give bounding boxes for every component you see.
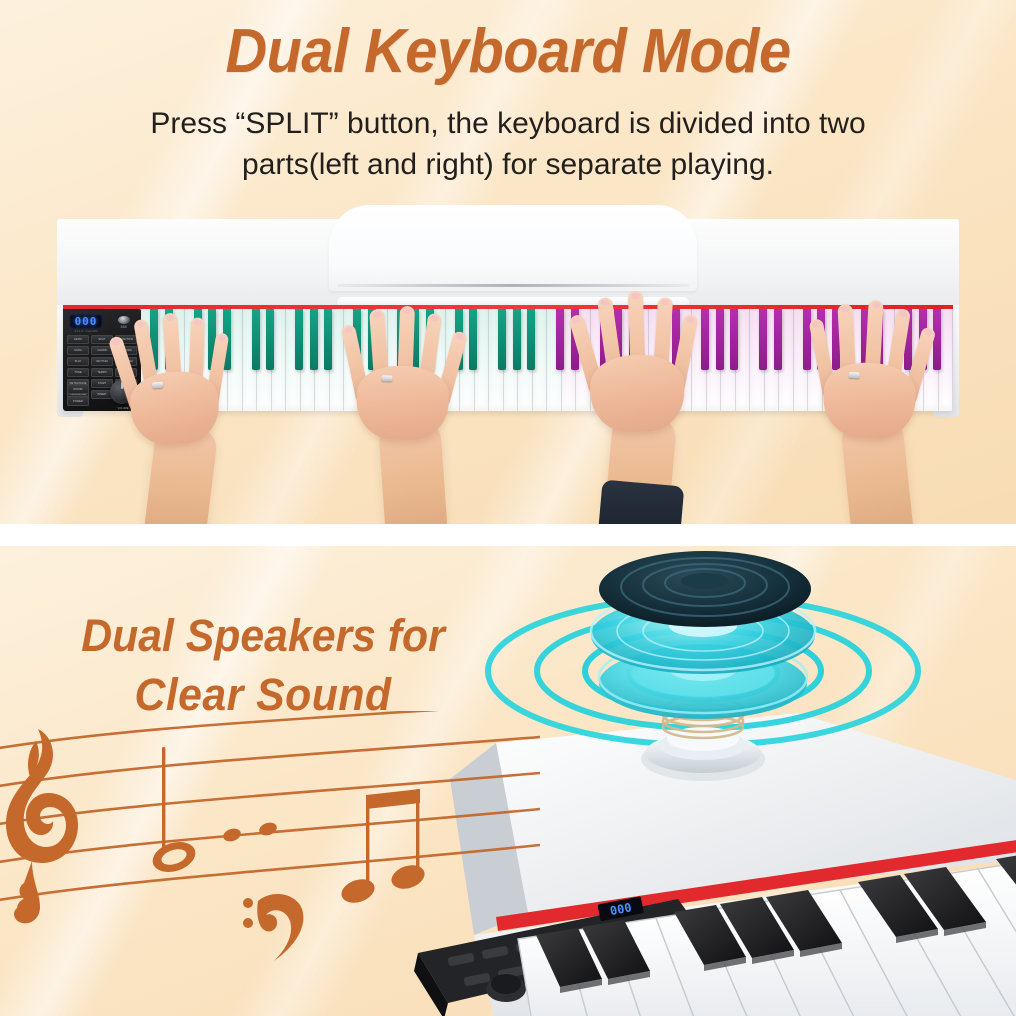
piano-keybed: 000 SPLIT CHORD 88K DEMOSPLITFUNCTIONSON… bbox=[63, 305, 953, 411]
black-key[interactable] bbox=[832, 309, 840, 370]
white-key[interactable] bbox=[243, 309, 258, 411]
white-key[interactable] bbox=[185, 309, 200, 411]
control-button-6[interactable]: PLAY bbox=[67, 357, 89, 366]
black-key[interactable] bbox=[861, 309, 869, 370]
music-staff-notes bbox=[0, 711, 540, 1001]
black-key[interactable] bbox=[556, 309, 564, 370]
black-key[interactable] bbox=[919, 309, 927, 370]
black-key[interactable] bbox=[266, 309, 274, 370]
black-key[interactable] bbox=[208, 309, 216, 370]
staff-svg bbox=[0, 711, 540, 1001]
black-key[interactable] bbox=[759, 309, 767, 370]
forearm bbox=[840, 415, 914, 531]
volume-knob[interactable]: VOLUME bbox=[110, 380, 136, 406]
black-key[interactable] bbox=[730, 309, 738, 370]
top-panel-dual-keyboard-mode: Dual Keyboard Mode Press “SPLIT” button,… bbox=[0, 0, 1016, 531]
white-key[interactable] bbox=[286, 309, 301, 411]
top-panel-title: Dual Keyboard Mode bbox=[36, 19, 981, 84]
black-key[interactable] bbox=[672, 309, 680, 370]
subtitle-line-2: parts(left and right) for separate playi… bbox=[90, 145, 926, 186]
black-key[interactable] bbox=[658, 309, 666, 370]
panel-divider bbox=[0, 524, 1016, 546]
control-button-9[interactable]: TONE bbox=[67, 368, 89, 377]
piano-keys[interactable] bbox=[141, 309, 953, 411]
staff-lines bbox=[0, 711, 540, 905]
control-button-11[interactable]: SUSTAIN bbox=[115, 368, 137, 377]
quarter-note-icon bbox=[222, 821, 279, 844]
black-key[interactable] bbox=[614, 309, 622, 370]
white-key[interactable] bbox=[895, 309, 910, 411]
led-display-value: 000 bbox=[75, 315, 98, 328]
music-rest bbox=[329, 205, 697, 291]
white-key[interactable] bbox=[794, 309, 809, 411]
white-key[interactable] bbox=[141, 309, 156, 411]
black-key[interactable] bbox=[150, 309, 158, 370]
control-button-1[interactable]: SPLIT bbox=[91, 335, 113, 344]
black-key[interactable] bbox=[817, 309, 825, 370]
black-key[interactable] bbox=[455, 309, 463, 370]
white-key[interactable] bbox=[446, 309, 461, 411]
black-key[interactable] bbox=[397, 309, 405, 370]
black-key[interactable] bbox=[295, 309, 303, 370]
bass-clef-icon bbox=[243, 894, 303, 961]
black-key[interactable] bbox=[426, 309, 434, 370]
digital-piano-front-view: 000 SPLIT CHORD 88K DEMOSPLITFUNCTIONSON… bbox=[57, 219, 959, 419]
black-key[interactable] bbox=[194, 309, 202, 370]
black-key[interactable] bbox=[252, 309, 260, 370]
power-button-0[interactable]: ON/OFF bbox=[67, 384, 89, 394]
black-key[interactable] bbox=[223, 309, 231, 370]
black-key[interactable] bbox=[310, 309, 318, 370]
black-key[interactable] bbox=[904, 309, 912, 370]
black-key[interactable] bbox=[469, 309, 477, 370]
black-key[interactable] bbox=[324, 309, 332, 370]
white-key[interactable] bbox=[344, 309, 359, 411]
white-key[interactable] bbox=[547, 309, 562, 411]
white-key[interactable] bbox=[649, 309, 664, 411]
forearm bbox=[378, 418, 448, 531]
black-key[interactable] bbox=[716, 309, 724, 370]
black-key[interactable] bbox=[165, 309, 173, 370]
black-key[interactable] bbox=[498, 309, 506, 370]
led-display-sublabels: SPLIT CHORD bbox=[69, 329, 103, 333]
black-key[interactable] bbox=[774, 309, 782, 370]
led-display: 000 bbox=[69, 314, 103, 329]
control-button-3[interactable]: SONG bbox=[67, 346, 89, 355]
eighth-note-icon bbox=[338, 789, 427, 907]
speaker-grille-icon: 88K bbox=[112, 314, 136, 331]
control-button-5[interactable]: RECORD bbox=[115, 346, 137, 355]
black-key[interactable] bbox=[600, 309, 608, 370]
black-key[interactable] bbox=[513, 309, 521, 370]
volume-knob-label: VOLUME bbox=[110, 407, 136, 410]
black-key[interactable] bbox=[411, 309, 419, 370]
black-key[interactable] bbox=[353, 309, 361, 370]
black-key[interactable] bbox=[368, 309, 376, 370]
product-infographic: Dual Keyboard Mode Press “SPLIT” button,… bbox=[0, 0, 1016, 1016]
black-key[interactable] bbox=[629, 309, 637, 370]
white-key[interactable] bbox=[852, 309, 867, 411]
power-button-1[interactable]: POWER bbox=[67, 396, 89, 406]
white-key[interactable] bbox=[692, 309, 707, 411]
brand-text: 88K bbox=[121, 325, 128, 329]
white-key[interactable] bbox=[591, 309, 606, 411]
black-key[interactable] bbox=[933, 309, 941, 370]
control-panel[interactable]: 000 SPLIT CHORD 88K DEMOSPLITFUNCTIONSON… bbox=[63, 309, 141, 411]
red-accent-stripe bbox=[63, 305, 953, 309]
control-button-0[interactable]: DEMO bbox=[67, 335, 89, 344]
bottom-title-line-1: Dual Speakers for bbox=[59, 607, 468, 666]
bottom-panel-dual-speakers: Dual Speakers for Clear Sound bbox=[0, 541, 1016, 1016]
forearm bbox=[143, 422, 219, 531]
white-key[interactable] bbox=[750, 309, 765, 411]
white-key[interactable] bbox=[489, 309, 504, 411]
power-button-group[interactable]: ON/OFFPOWER bbox=[67, 384, 89, 406]
black-key[interactable] bbox=[803, 309, 811, 370]
black-key[interactable] bbox=[571, 309, 579, 370]
control-button-7[interactable]: RHYTHM bbox=[91, 357, 113, 366]
subtitle-line-1: Press “SPLIT” button, the keyboard is di… bbox=[90, 104, 926, 145]
control-button-4[interactable]: CHORD bbox=[91, 346, 113, 355]
white-key[interactable] bbox=[388, 309, 403, 411]
control-button-10[interactable]: TEMPO bbox=[91, 368, 113, 377]
control-button-8[interactable]: PROGRAM bbox=[115, 357, 137, 366]
control-button-2[interactable]: FUNCTION bbox=[115, 335, 137, 344]
black-key[interactable] bbox=[527, 309, 535, 370]
black-key[interactable] bbox=[875, 309, 883, 370]
black-key[interactable] bbox=[701, 309, 709, 370]
top-panel-subtitle: Press “SPLIT” button, the keyboard is di… bbox=[0, 104, 1016, 186]
